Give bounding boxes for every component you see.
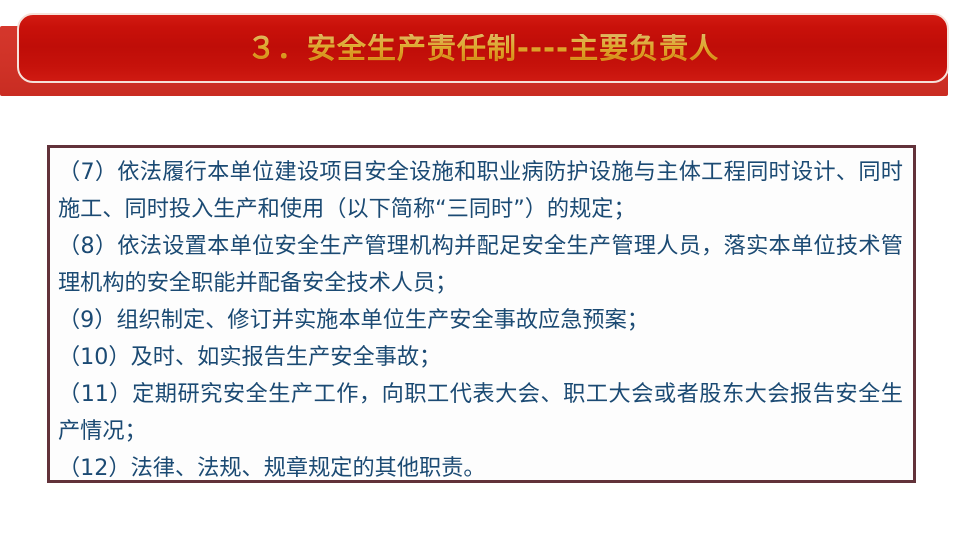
clause-list: （7）依法履行本单位建设项目安全设施和职业病防护设施与主体工程同时设计、同时施工…: [58, 154, 903, 487]
content-box: （7）依法履行本单位建设项目安全设施和职业病防护设施与主体工程同时设计、同时施工…: [47, 145, 916, 483]
banner-plaque: ３．安全生产责任制----主要负责人: [17, 13, 949, 83]
clause-item-12: （12）法律、法规、规章规定的其他职责。: [58, 450, 903, 487]
clause-item-10: （10）及时、如实报告生产安全事故；: [58, 339, 903, 376]
clause-item-9: （9）组织制定、修订并实施本单位生产安全事故应急预案；: [58, 302, 903, 339]
clause-item-7: （7）依法履行本单位建设项目安全设施和职业病防护设施与主体工程同时设计、同时施工…: [58, 154, 903, 228]
slide-canvas: ３．安全生产责任制----主要负责人 （7）依法履行本单位建设项目安全设施和职业…: [0, 0, 960, 540]
title-banner: ３．安全生产责任制----主要负责人: [0, 0, 960, 108]
slide-title: ３．安全生产责任制----主要负责人: [247, 34, 719, 63]
clause-item-8: （8）依法设置本单位安全生产管理机构并配足安全生产管理人员，落实本单位技术管理机…: [58, 228, 903, 302]
clause-item-11: （11）定期研究安全生产工作，向职工代表大会、职工大会或者股东大会报告安全生产情…: [58, 376, 903, 450]
